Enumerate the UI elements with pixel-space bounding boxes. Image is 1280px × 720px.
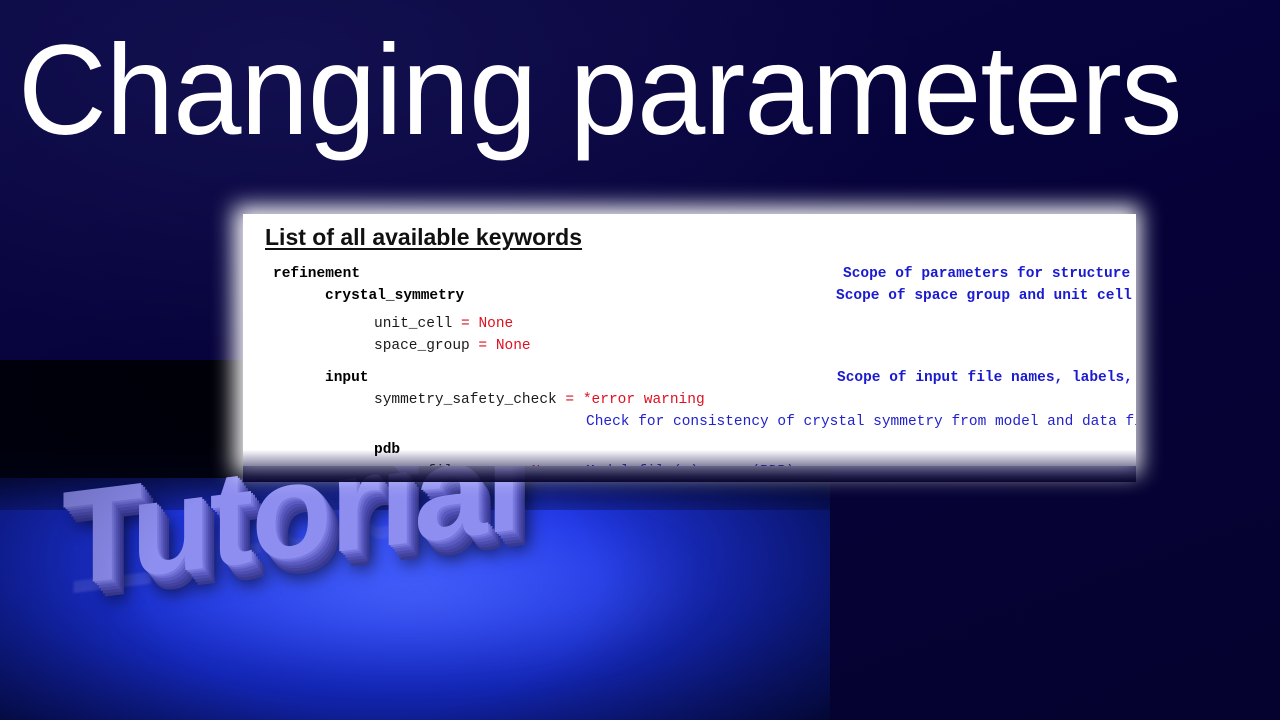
keyword-row-spacer <box>243 360 1136 370</box>
equals-sign: = <box>470 338 496 354</box>
keyword-scope-name: input <box>325 370 369 386</box>
keyword-row[interactable]: file_name = NoneModel file(s) name (PDB) <box>243 464 1136 466</box>
keyword-parameter: unit_cell = None <box>374 316 513 332</box>
keyword-card-heading: List of all available keywords <box>265 224 582 251</box>
scope-label: refinement <box>273 266 360 282</box>
slide-root: Changing parameters Tutorial Tutorial Li… <box>0 0 1280 720</box>
keyword-parameter: symmetry_safety_check = *error warning <box>374 392 705 408</box>
keyword-row[interactable]: refinementScope of parameters for struct… <box>243 266 1136 288</box>
keyword-parameter: file_name = None <box>427 464 566 466</box>
keyword-description: Check for consistency of crystal symmetr… <box>586 414 1136 430</box>
keyword-description: Model file(s) name (PDB) <box>586 464 795 466</box>
parameter-value: None <box>531 464 566 466</box>
equals-sign: = <box>557 392 583 408</box>
equals-sign: = <box>505 464 531 466</box>
parameter-value: None <box>496 338 531 354</box>
scope-label: pdb <box>374 442 400 458</box>
page-title: Changing parameters <box>18 26 1218 156</box>
keyword-card: List of all available keywords refinemen… <box>243 214 1136 466</box>
keyword-row[interactable]: symmetry_safety_check = *error warning <box>243 392 1136 414</box>
parameter-label: space_group <box>374 338 470 354</box>
keyword-parameter: space_group = None <box>374 338 531 354</box>
parameter-value: *error warning <box>583 392 705 408</box>
keyword-description: Scope of input file names, labels, proce… <box>837 370 1136 386</box>
parameter-label: file_name <box>427 464 505 466</box>
keyword-row[interactable]: unit_cell = None <box>243 316 1136 338</box>
keyword-description: Scope of space group and unit cell param… <box>836 288 1136 304</box>
keyword-row[interactable]: Check for consistency of crystal symmetr… <box>243 414 1136 436</box>
equals-sign: = <box>452 316 478 332</box>
scope-label: crystal_symmetry <box>325 288 464 304</box>
keyword-row[interactable]: inputScope of input file names, labels, … <box>243 370 1136 392</box>
keyword-scope-name: refinement <box>273 266 360 282</box>
keyword-description: Scope of parameters for structure refine… <box>843 266 1136 282</box>
keyword-row[interactable]: pdb <box>243 442 1136 464</box>
parameter-label: unit_cell <box>374 316 452 332</box>
keyword-scope-name: pdb <box>374 442 400 458</box>
parameter-label: symmetry_safety_check <box>374 392 557 408</box>
keyword-scope-name: crystal_symmetry <box>325 288 464 304</box>
parameter-value: None <box>478 316 513 332</box>
scope-label: input <box>325 370 369 386</box>
keyword-row[interactable]: crystal_symmetryScope of space group and… <box>243 288 1136 310</box>
keyword-row[interactable]: space_group = None <box>243 338 1136 360</box>
keyword-list: refinementScope of parameters for struct… <box>243 266 1136 466</box>
